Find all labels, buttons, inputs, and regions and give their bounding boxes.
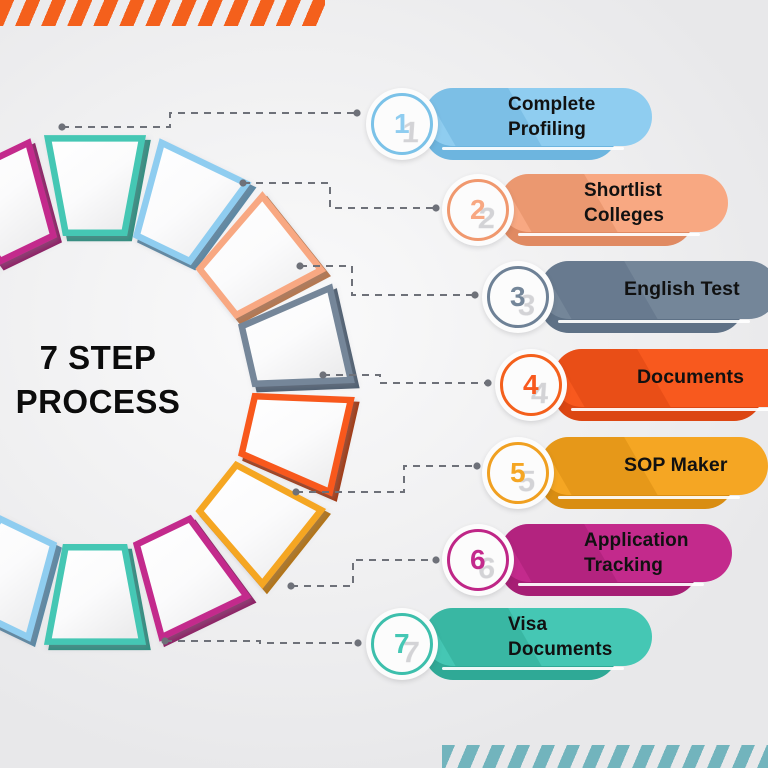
step-number-badge[interactable]: 33 [482, 261, 554, 333]
step-label: Visa Documents [424, 608, 652, 666]
ring-segment-shadow-edge [52, 143, 146, 237]
step-pill[interactable]: English Test [540, 261, 768, 333]
step-pill[interactable]: SOP Maker [540, 437, 768, 509]
step-pill-hairline [558, 496, 740, 499]
infographic-canvas: 7 STEP PROCESS Complete Profiling11Short… [0, 0, 768, 768]
step-row[interactable]: SOP Maker55 [482, 437, 768, 509]
connector-dot-end [354, 639, 361, 646]
ring-segment-face [242, 396, 351, 492]
ring-segment-face [242, 288, 351, 384]
step-number-badge[interactable]: 55 [482, 437, 554, 509]
connector-line [58, 109, 360, 130]
step-badge-inner: 66 [447, 529, 509, 591]
ring-segment-shadow-edge [0, 524, 58, 642]
teal-diagonal-stripes-decoration [442, 745, 768, 768]
ring-segment-face [137, 519, 247, 637]
connector-dot-end [471, 291, 478, 298]
step-label: English Test [540, 261, 768, 319]
step-number: 4 [523, 371, 539, 399]
step-label: SOP Maker [540, 437, 768, 495]
connector-dashed-path [243, 183, 436, 208]
ring-segment-shadow-edge [246, 401, 355, 497]
connector-line [292, 462, 480, 495]
step-number-badge[interactable]: 22 [442, 174, 514, 246]
connector-dot-end [432, 556, 439, 563]
step-pill-hairline [518, 233, 700, 236]
step-number: 5 [510, 459, 526, 487]
connector-dot-end [473, 462, 480, 469]
step-pill[interactable]: Visa Documents [424, 608, 652, 680]
connector-dashed-path [62, 113, 357, 127]
step-label: Documents [553, 349, 768, 407]
connector-dot-start [58, 123, 65, 130]
connector-dashed-path [165, 641, 358, 643]
step-number: 1 [394, 110, 410, 138]
ring-segment [137, 143, 251, 266]
step-pill-hairline [442, 147, 624, 150]
connector-dashed-path [296, 466, 477, 492]
step-pill[interactable]: Documents [553, 349, 768, 421]
step-pill[interactable]: Application Tracking [500, 524, 732, 596]
ring-segment-face [0, 519, 53, 637]
connector-line [296, 262, 478, 298]
step-number: 6 [470, 546, 486, 574]
connector-dot-start [239, 179, 246, 186]
step-label: Complete Profiling [424, 88, 652, 146]
connector-dashed-path [300, 266, 475, 295]
connector-dot-start [161, 637, 168, 644]
step-number-badge[interactable]: 11 [366, 88, 438, 160]
step-row[interactable]: Application Tracking66 [442, 524, 732, 596]
connector-line [287, 556, 439, 589]
step-pill-hairline [518, 583, 704, 586]
ring-segment-face [137, 143, 247, 261]
connector-dashed-path [291, 560, 436, 586]
orange-diagonal-stripes-decoration [0, 0, 325, 26]
connector-dot-end [432, 204, 439, 211]
step-number: 7 [394, 630, 410, 658]
step-pill[interactable]: Shortlist Colleges [500, 174, 728, 246]
step-badge-inner: 55 [487, 442, 549, 504]
ring-segment-shadow-edge [246, 293, 355, 389]
ring-segment-face [200, 196, 322, 315]
connector-dot-start [296, 262, 303, 269]
ring-segment [200, 196, 326, 320]
ring-segment [48, 547, 147, 646]
connector-line [161, 637, 361, 646]
step-row[interactable]: English Test33 [482, 261, 768, 333]
connector-dot-start [287, 582, 294, 589]
step-badge-inner: 44 [500, 354, 562, 416]
connector-dashed-path [323, 375, 488, 383]
step-number-badge[interactable]: 66 [442, 524, 514, 596]
step-pill-hairline [571, 408, 768, 411]
connector-dot-start [292, 488, 299, 495]
page-title: 7 STEP PROCESS [0, 336, 214, 424]
step-number: 3 [510, 283, 526, 311]
connector-line [239, 179, 439, 211]
ring-segment [242, 288, 356, 389]
ring-segment-shadow-edge [141, 148, 251, 266]
page-title-line-2: PROCESS [0, 380, 214, 424]
step-label: Shortlist Colleges [500, 174, 728, 232]
step-badge-inner: 33 [487, 266, 549, 328]
step-number-badge[interactable]: 77 [366, 608, 438, 680]
ring-segment-face [48, 547, 142, 641]
ring-segment-shadow-edge [204, 201, 326, 320]
ring-segment-face [200, 465, 322, 584]
connector-dot-end [484, 379, 491, 386]
ring-segment [137, 519, 251, 642]
step-pill-hairline [558, 320, 750, 323]
step-number-badge[interactable]: 44 [495, 349, 567, 421]
step-row[interactable]: Shortlist Colleges22 [442, 174, 728, 246]
step-label: Application Tracking [500, 524, 732, 582]
step-pill-hairline [442, 667, 624, 670]
connector-line [319, 371, 491, 386]
ring-segment [48, 138, 147, 237]
ring-segment-shadow-edge [204, 470, 326, 589]
step-badge-inner: 77 [371, 613, 433, 675]
step-badge-inner: 11 [371, 93, 433, 155]
page-title-line-1: 7 STEP [0, 336, 214, 380]
step-pill[interactable]: Complete Profiling [424, 88, 652, 160]
ring-segment [200, 465, 326, 589]
step-number: 2 [470, 196, 486, 224]
ring-segment [242, 396, 356, 497]
ring-segment-shadow-edge [52, 552, 146, 646]
ring-segment-face [48, 138, 142, 232]
step-row[interactable]: Documents44 [495, 349, 768, 421]
step-row[interactable]: Complete Profiling11 [366, 88, 652, 160]
ring-segment-shadow-edge [0, 148, 58, 266]
connector-dot-end [353, 109, 360, 116]
step-badge-inner: 22 [447, 179, 509, 241]
ring-segment-shadow-edge [141, 524, 251, 642]
ring-segment-face [0, 143, 53, 261]
connector-dot-start [319, 371, 326, 378]
ring-segment [0, 143, 58, 266]
ring-segment [0, 519, 58, 642]
step-row[interactable]: Visa Documents77 [366, 608, 652, 680]
